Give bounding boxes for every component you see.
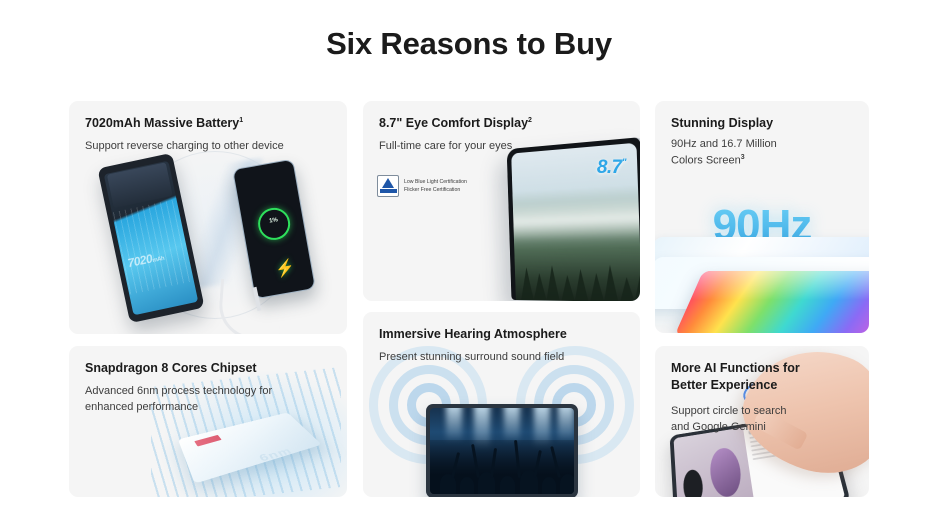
usb-cable-tip-icon — [253, 287, 261, 311]
card-subtitle: Present stunning surround sound field — [379, 350, 628, 366]
charge-percent-label: 1% — [257, 215, 290, 226]
tuv-certification-icon — [377, 175, 399, 197]
card-title: Stunning Display — [671, 115, 857, 132]
sound-wave-ring-mid-right — [534, 365, 614, 445]
card-subtitle: Advanced 6nm process technology for enha… — [85, 384, 335, 416]
battery-capacity-label: 7020mAh — [126, 244, 186, 270]
card-eye-comfort-display[interactable]: 8.7" Low Blue Light Certification Flicke… — [363, 101, 640, 301]
card-immersive-hearing[interactable]: Immersive Hearing Atmosphere Present stu… — [363, 312, 640, 497]
sound-wave-ring-inner-left — [407, 383, 451, 427]
charge-ring-icon — [256, 205, 293, 242]
lightning-bolt-icon: ⚡ — [273, 257, 296, 280]
card-snapdragon-chipset[interactable]: 6nm Snapdragon 8 Cores Chipset Advanced … — [69, 346, 347, 497]
card-subtitle: 90Hz and 16.7 Million Colors Screen3 — [671, 137, 857, 170]
tablet-landscape-forest-icon — [507, 137, 640, 301]
layered-display-panels-icon — [655, 237, 869, 333]
card-subtitle: Full-time care for your eyes — [379, 139, 628, 155]
card-title: Immersive Hearing Atmosphere — [379, 326, 628, 343]
chip-brand-logo — [194, 435, 221, 447]
certification-text: Low Blue Light Certification Flicker Fre… — [404, 178, 467, 194]
sound-wave-ring-mid-left — [389, 365, 469, 445]
tablet-battery-cutaway-icon: 7020mAh — [97, 153, 204, 323]
card-title: Snapdragon 8 Cores Chipset — [85, 360, 335, 377]
swoosh-decoration — [181, 158, 279, 288]
card-title: More AI Functions for Better Experience — [671, 360, 857, 394]
usb-cable-icon — [217, 279, 283, 334]
card-stunning-display[interactable]: 90Hz Stunning Display 90Hz and 16.7 Mill… — [655, 101, 869, 333]
card-subtitle: Support reverse charging to other device — [85, 139, 335, 155]
phone-charging-icon: 1% ⚡ — [232, 159, 316, 300]
screen-size-label: 8.7" — [597, 157, 626, 179]
tablet-concert-crowd-icon — [426, 404, 578, 497]
refresh-rate-label: 90Hz — [713, 201, 812, 251]
card-title: 8.7" Eye Comfort Display2 — [379, 115, 628, 132]
process-node-label: 6nm — [257, 446, 295, 464]
base-glow-decoration — [655, 285, 869, 333]
card-title: 7020mAh Massive Battery1 — [85, 115, 335, 132]
promo-page: Six Reasons to Buy 7020mAh 1% ⚡ 7020mAh — [0, 0, 938, 527]
card-subtitle: Support circle to search and Google Gemi… — [671, 404, 857, 436]
stunning-display-artwork: 90Hz — [655, 101, 869, 333]
sound-wave-ring-inner-right — [552, 383, 596, 427]
color-gamut-band-icon — [675, 271, 869, 333]
certification-badge: Low Blue Light Certification Flicker Fre… — [377, 173, 497, 199]
card-ai-functions[interactable]: More AI Functions for Better Experience … — [655, 346, 869, 497]
card-massive-battery[interactable]: 7020mAh 1% ⚡ 7020mAh Massive Battery1 Su… — [69, 101, 347, 334]
battery-artwork: 7020mAh 1% ⚡ — [69, 101, 347, 334]
halo-circle-decoration — [131, 151, 299, 319]
chipset-die-icon — [178, 412, 322, 483]
page-title: Six Reasons to Buy — [0, 26, 938, 62]
